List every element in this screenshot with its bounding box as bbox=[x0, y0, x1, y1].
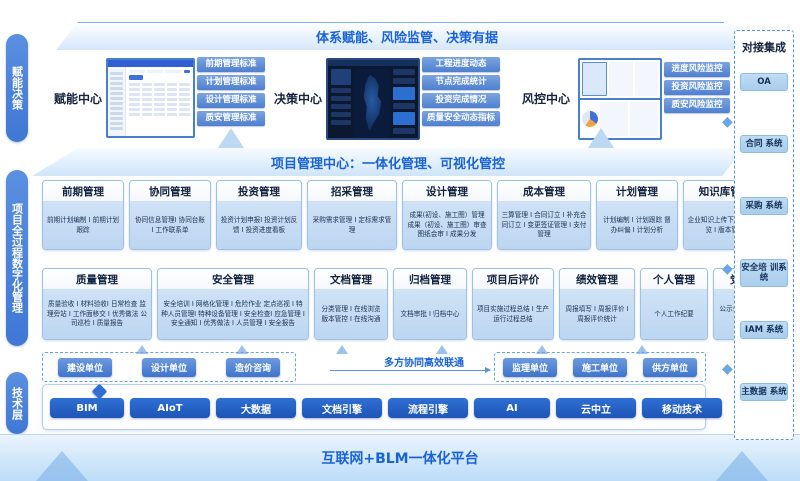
tag-item[interactable]: 计划管理标准 bbox=[197, 75, 265, 90]
tech-chip-document-engine[interactable]: 文档引擎 bbox=[302, 398, 382, 418]
module-items: 周报填写 I 周报评价 I 周报评价统计 bbox=[560, 290, 634, 339]
collab-label: 多方协同高效联通 bbox=[384, 354, 464, 369]
decision-center-tags: 工程进度动态 节点完成统计 投资完成情况 质量安全动态指标 bbox=[422, 57, 500, 126]
module-card-safety[interactable]: 安全管理 安全培训 I 网格化管理 I 危险作业 定点巡视 I 特种人员管理I … bbox=[157, 268, 309, 340]
module-card-investment[interactable]: 投资管理 投资计划申报I 投资计划反馈 I 投资进度看板 bbox=[216, 180, 302, 250]
participant-supplier-unit[interactable]: 供方单位 bbox=[643, 358, 697, 377]
tag-item[interactable]: 质量安全动态指标 bbox=[422, 111, 500, 126]
mid-banner: 项目管理中心：一体化管理、可视化管控 bbox=[32, 148, 744, 176]
tag-item[interactable]: 进度风险监控 bbox=[664, 62, 730, 77]
flow-arrow-up bbox=[588, 128, 614, 148]
participant-construction-contractor[interactable]: 施工单位 bbox=[573, 358, 627, 377]
module-title: 归档管理 bbox=[394, 269, 466, 290]
module-title: 招采管理 bbox=[308, 181, 396, 202]
integration-item-procurement[interactable]: 采购 系统 bbox=[740, 197, 788, 215]
rail-technology-layer: 技术层 bbox=[6, 372, 28, 434]
module-title: 协同管理 bbox=[130, 181, 210, 202]
tech-layer-row: BIM AIoT 大数据 文档引擎 流程引擎 AI 云中立 移动技术 bbox=[50, 398, 722, 418]
module-card-performance[interactable]: 绩效管理 周报填写 I 周报评价 I 周报评价统计 bbox=[559, 268, 635, 340]
center-label-empower: 赋能中心 bbox=[54, 90, 102, 107]
integration-item-contract[interactable]: 合同 系统 bbox=[740, 135, 788, 153]
module-items: 前期计划编制 I 前期计划跟踪 bbox=[43, 202, 123, 249]
center-label-decision: 决策中心 bbox=[274, 90, 322, 107]
tag-item[interactable]: 质安风险监控 bbox=[664, 98, 730, 113]
participant-cost-consulting[interactable]: 造价咨询 bbox=[226, 358, 280, 377]
module-items: 计划编制 I 计划跟踪 督办纠偏 I 计划分析 bbox=[597, 202, 677, 249]
tech-chip-bigdata[interactable]: 大数据 bbox=[216, 398, 296, 418]
module-title: 安全管理 bbox=[158, 269, 308, 290]
tech-chip-cloud-neutral[interactable]: 云中立 bbox=[556, 398, 636, 418]
top-banner: 体系赋能、风险监管、决策有据 bbox=[32, 22, 744, 50]
participant-supervision-unit[interactable]: 监理单位 bbox=[503, 358, 557, 377]
module-row-1: 前期管理 前期计划编制 I 前期计划跟踪 协同管理 协同信息管理I 协同台账 I… bbox=[42, 180, 767, 250]
tech-chip-ai[interactable]: AI bbox=[474, 398, 550, 418]
link-arrow-icon: ◆ bbox=[722, 362, 733, 376]
module-title: 投资管理 bbox=[217, 181, 301, 202]
module-items: 成果(初设、施工图）管理 成果（初设、施工图）审查 图纸会审 I 成果分发 bbox=[403, 202, 491, 249]
module-title: 绩效管理 bbox=[560, 269, 634, 290]
flow-arrow-up bbox=[336, 345, 348, 354]
rail-label: 项目全过程数字化管理 bbox=[11, 203, 24, 313]
module-card-procurement[interactable]: 招采管理 采购需求管理 I 定标需求管理 bbox=[307, 180, 397, 250]
module-items: 个人工作纪要 bbox=[641, 290, 707, 339]
module-title: 项目后评价 bbox=[473, 269, 553, 290]
module-card-quality[interactable]: 质量管理 质量验收 I 材料验收I 日常检查 监理旁站 I 工作面移交 I 优秀… bbox=[42, 268, 152, 340]
module-card-document[interactable]: 文档管理 分类管理 I 在线浏览 版本管控 I 在线沟通 bbox=[314, 268, 388, 340]
module-card-archive[interactable]: 归档管理 文档审批 I 归档中心 bbox=[393, 268, 467, 340]
module-card-early-stage[interactable]: 前期管理 前期计划编制 I 前期计划跟踪 bbox=[42, 180, 124, 250]
tag-item[interactable]: 投资风险监控 bbox=[664, 80, 730, 95]
link-arrow-icon: ◆ bbox=[722, 115, 733, 129]
participants-right-group: 监理单位 施工单位 供方单位 bbox=[494, 352, 706, 382]
module-items: 三算管理 I 合同订立 I 补充合同订立 I 变更签证管理 I 支付管理 bbox=[498, 202, 590, 249]
link-arrow-icon: ◆ bbox=[722, 262, 733, 276]
risk-center-tags: 进度风险监控 投资风险监控 质安风险监控 bbox=[664, 62, 730, 113]
mid-banner-title: 项目管理中心：一体化管理、可视化管控 bbox=[271, 153, 505, 172]
module-items: 文档审批 I 归档中心 bbox=[394, 290, 466, 339]
integration-item-oa[interactable]: OA bbox=[740, 73, 788, 91]
module-card-plan[interactable]: 计划管理 计划编制 I 计划跟踪 督办纠偏 I 计划分析 bbox=[596, 180, 678, 250]
tech-chip-process-engine[interactable]: 流程引擎 bbox=[388, 398, 468, 418]
integration-item-iam[interactable]: IAM 系统 bbox=[740, 321, 788, 339]
module-items: 质量验收 I 材料验收I 日常检查 监理旁站 I 工作面移交 I 优秀做法 公司… bbox=[43, 290, 151, 339]
module-title: 质量管理 bbox=[43, 269, 151, 290]
integration-panel-title: 对接集成 bbox=[735, 39, 793, 55]
module-items: 项目实施过程总结 I 生产运行过程总结 bbox=[473, 290, 553, 339]
tag-item[interactable]: 节点完成统计 bbox=[422, 75, 500, 90]
participant-design-unit[interactable]: 设计单位 bbox=[142, 358, 196, 377]
tag-item[interactable]: 前期管理标准 bbox=[197, 57, 265, 72]
module-title: 成本管理 bbox=[498, 181, 590, 202]
integration-panel: 对接集成 OA 合同 系统 采购 系统 安全培 训系统 IAM 系统 主数据 系… bbox=[734, 30, 794, 440]
tech-chip-mobile[interactable]: 移动技术 bbox=[642, 398, 722, 418]
integration-item-master-data[interactable]: 主数据 系统 bbox=[740, 383, 788, 401]
tag-item[interactable]: 投资完成情况 bbox=[422, 93, 500, 108]
rail-empower-decision: 赋能决策 bbox=[6, 34, 28, 142]
collab-arrow-line bbox=[330, 370, 490, 371]
participants-left-group: 建设单位 设计单位 造价咨询 bbox=[42, 352, 296, 382]
module-items: 协同信息管理I 协同台账 I 工作联系单 bbox=[130, 202, 210, 249]
tech-chip-aiot[interactable]: AIoT bbox=[130, 398, 210, 418]
module-title: 文档管理 bbox=[315, 269, 387, 290]
bottom-banner-title: 互联网+BLM一体化平台 bbox=[321, 448, 478, 468]
module-card-cost[interactable]: 成本管理 三算管理 I 合同订立 I 补充合同订立 I 变更签证管理 I 支付管… bbox=[497, 180, 591, 250]
tag-item[interactable]: 设计管理标准 bbox=[197, 93, 265, 108]
center-label-risk: 风控中心 bbox=[522, 90, 570, 107]
module-card-collaboration[interactable]: 协同管理 协同信息管理I 协同台账 I 工作联系单 bbox=[129, 180, 211, 250]
tag-item[interactable]: 工程进度动态 bbox=[422, 57, 500, 72]
tag-item[interactable]: 质安管理标准 bbox=[197, 111, 265, 126]
module-title: 个人管理 bbox=[641, 269, 707, 290]
empower-center-tags: 前期管理标准 计划管理标准 设计管理标准 质安管理标准 bbox=[197, 57, 265, 126]
module-items: 投资计划申报I 投资计划反馈 I 投资进度看板 bbox=[217, 202, 301, 249]
integration-item-safety-training[interactable]: 安全培 训系统 bbox=[740, 259, 788, 287]
tech-chip-bim[interactable]: BIM bbox=[50, 398, 124, 418]
module-title: 设计管理 bbox=[403, 181, 491, 202]
module-title: 计划管理 bbox=[597, 181, 677, 202]
module-title: 前期管理 bbox=[43, 181, 123, 202]
module-card-post-evaluation[interactable]: 项目后评价 项目实施过程总结 I 生产运行过程总结 bbox=[472, 268, 554, 340]
flow-arrow-up bbox=[218, 128, 244, 148]
rail-label: 技术层 bbox=[11, 387, 24, 420]
decision-center-screenshot bbox=[326, 58, 420, 140]
module-card-personal[interactable]: 个人管理 个人工作纪要 bbox=[640, 268, 708, 340]
top-banner-title: 体系赋能、风险监管、决策有据 bbox=[316, 27, 498, 46]
module-card-design[interactable]: 设计管理 成果(初设、施工图）管理 成果（初设、施工图）审查 图纸会审 I 成果… bbox=[402, 180, 492, 250]
rail-full-process-digital-management: 项目全过程数字化管理 bbox=[6, 170, 28, 346]
flow-arrow-up bbox=[436, 345, 448, 354]
module-row-2: 质量管理 质量验收 I 材料验收I 日常检查 监理旁站 I 工作面移交 I 优秀… bbox=[42, 268, 789, 340]
rail-label: 赋能决策 bbox=[11, 66, 24, 110]
bottom-banner: 互联网+BLM一体化平台 bbox=[0, 434, 800, 481]
participant-construction-unit[interactable]: 建设单位 bbox=[58, 358, 112, 377]
architecture-diagram: 赋能决策 项目全过程数字化管理 技术层 体系赋能、风险监管、决策有据 赋能中心 bbox=[0, 0, 800, 480]
empower-center-screenshot bbox=[106, 58, 195, 138]
module-items: 采购需求管理 I 定标需求管理 bbox=[308, 202, 396, 249]
module-items: 分类管理 I 在线浏览 版本管控 I 在线沟通 bbox=[315, 290, 387, 339]
module-items: 安全培训 I 网格化管理 I 危险作业 定点巡视 I 特种人员管理I 特种设备管… bbox=[158, 290, 308, 339]
